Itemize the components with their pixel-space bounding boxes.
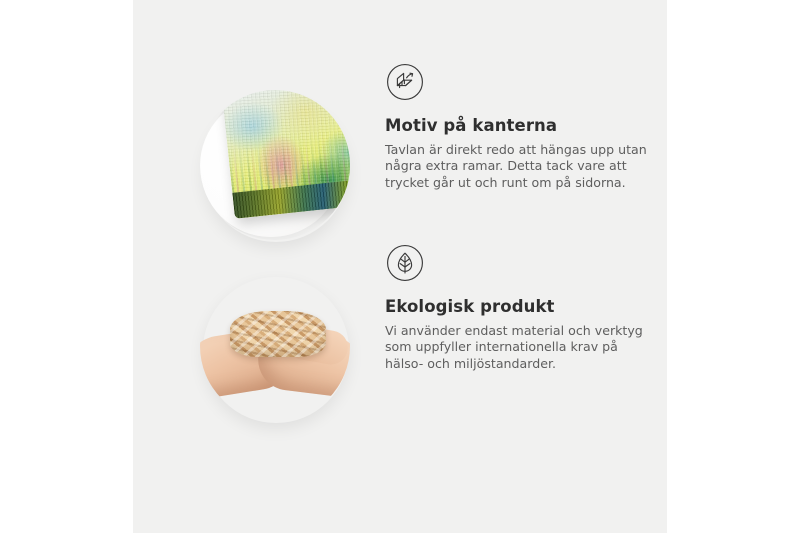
canvas-print-corner-photo (200, 90, 350, 240)
feature-text-1: Motiv på kanterna Tavlan är direkt redo … (385, 62, 655, 192)
canvas-block (222, 90, 350, 219)
feature-title: Motiv på kanterna (385, 116, 655, 136)
wood-chips-in-hands-photo (200, 271, 350, 421)
feature-text-2: Ekologisk produkt Vi använder endast mat… (385, 243, 655, 373)
wood-chips (230, 311, 326, 357)
feature-description: Vi använder endast material och verktyg … (385, 323, 647, 373)
content-panel: Motiv på kanterna Tavlan är direkt redo … (133, 0, 667, 533)
feature-title: Ekologisk produkt (385, 297, 655, 317)
product-feature-banner: Motiv på kanterna Tavlan är direkt redo … (0, 0, 800, 533)
feature-description: Tavlan är direkt redo att hängas upp uta… (385, 142, 647, 192)
canvas-wrapped-edges-icon (385, 62, 425, 102)
leaf-icon (385, 243, 425, 283)
